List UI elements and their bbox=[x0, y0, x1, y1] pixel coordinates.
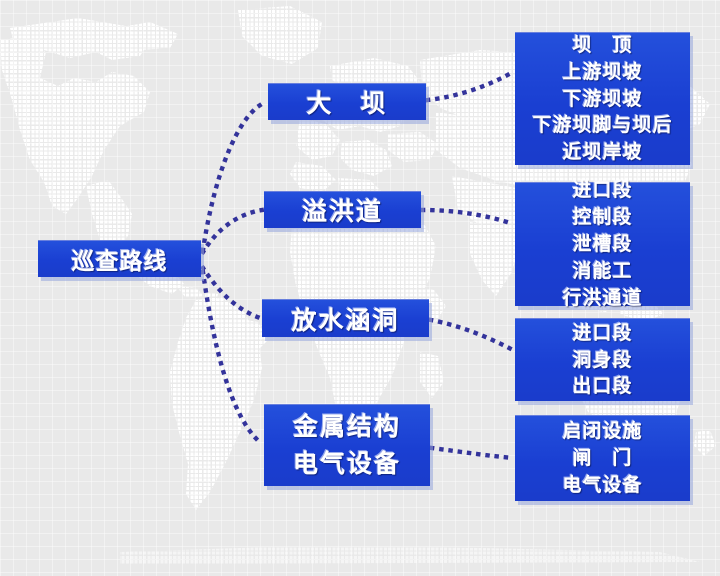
node-root-label: 巡查路线 bbox=[72, 242, 168, 276]
detail-panel-spillway[interactable]: 进口段 控制段 泄槽段 消能工 行洪通道 bbox=[515, 182, 690, 306]
node-category-metal-label-line1: 金属结构 bbox=[293, 409, 401, 445]
diagram-canvas: 巡查路线 大 坝 溢洪道 放水涵洞 金属结构 电气设备 坝 顶 上游坝坡 下游坝… bbox=[0, 0, 720, 576]
connector-culvert-detail bbox=[431, 320, 513, 350]
connector-root-spillway bbox=[203, 210, 262, 252]
detail-item: 闸 门 bbox=[572, 445, 632, 472]
detail-item: 洞身段 bbox=[572, 347, 632, 374]
detail-panel-metal-electrical[interactable]: 启闭设施 闸 门 电气设备 bbox=[515, 415, 690, 501]
node-category-metal-electrical[interactable]: 金属结构 电气设备 bbox=[264, 404, 430, 486]
node-category-spillway-label: 溢洪道 bbox=[302, 192, 383, 228]
detail-item: 进口段 bbox=[572, 320, 632, 347]
detail-item: 进口段 bbox=[572, 177, 632, 204]
detail-item: 下游坝坡 bbox=[562, 86, 642, 113]
connector-root-culvert bbox=[203, 268, 260, 318]
detail-item: 坝 顶 bbox=[572, 32, 632, 59]
detail-item: 消能工 bbox=[572, 258, 632, 285]
detail-item: 泄槽段 bbox=[572, 231, 632, 258]
node-category-spillway[interactable]: 溢洪道 bbox=[264, 191, 421, 228]
detail-item: 电气设备 bbox=[562, 472, 642, 499]
connector-metal-detail bbox=[432, 448, 513, 458]
detail-item: 出口段 bbox=[572, 373, 632, 400]
connector-spillway-detail bbox=[423, 210, 513, 224]
detail-item: 控制段 bbox=[572, 204, 632, 231]
connector-root-metal bbox=[203, 272, 262, 444]
detail-item: 行洪通道 bbox=[562, 285, 642, 312]
node-category-dam[interactable]: 大 坝 bbox=[268, 83, 426, 120]
connector-dam-detail bbox=[428, 72, 513, 100]
node-category-metal-label-line2: 电气设备 bbox=[293, 446, 401, 482]
node-category-dam-label: 大 坝 bbox=[306, 84, 387, 120]
node-category-culvert-label: 放水涵洞 bbox=[291, 301, 399, 337]
detail-item: 上游坝坡 bbox=[562, 59, 642, 86]
detail-item: 下游坝脚与坝后 bbox=[532, 112, 672, 139]
node-root-inspection-route[interactable]: 巡查路线 bbox=[38, 240, 201, 277]
node-category-culvert[interactable]: 放水涵洞 bbox=[262, 299, 429, 337]
detail-item: 启闭设施 bbox=[562, 418, 642, 445]
connector-root-dam bbox=[203, 102, 266, 250]
detail-panel-culvert[interactable]: 进口段 洞身段 出口段 bbox=[515, 318, 690, 401]
detail-item: 近坝岸坡 bbox=[562, 139, 642, 166]
detail-panel-dam[interactable]: 坝 顶 上游坝坡 下游坝坡 下游坝脚与坝后 近坝岸坡 bbox=[515, 32, 690, 165]
